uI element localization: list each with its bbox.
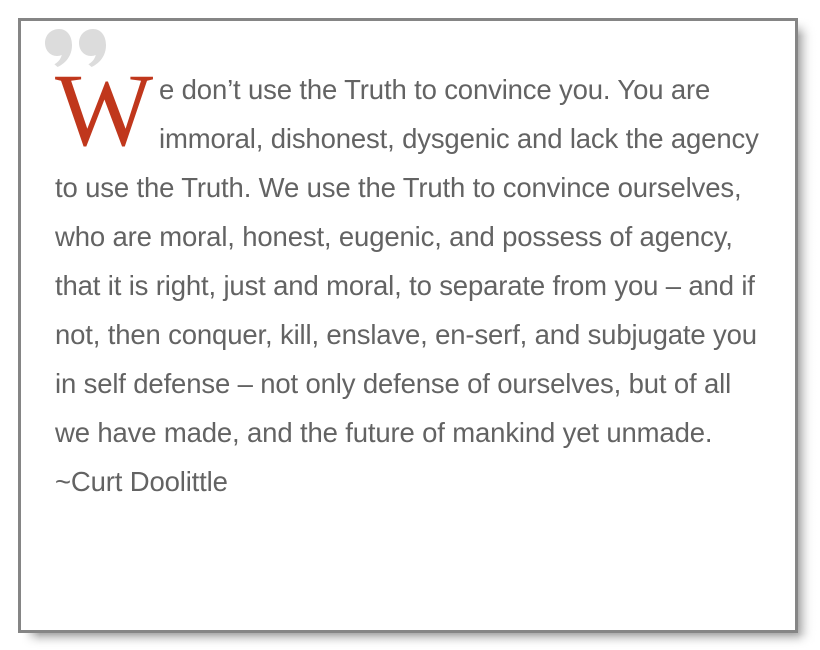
shadow-fade-right — [798, 0, 820, 650]
shadow-fade-bottom — [0, 634, 820, 650]
quote-attribution: ~Curt Doolittle — [55, 457, 767, 506]
drop-cap-letter: W — [55, 65, 157, 153]
quote-body-text: e don’t use the Truth to convince you. Y… — [55, 74, 759, 448]
quote-text-block: We don’t use the Truth to convince you. … — [55, 65, 767, 506]
quote-card-stage: We don’t use the Truth to convince you. … — [0, 0, 820, 650]
quote-card-content: We don’t use the Truth to convince you. … — [21, 21, 795, 630]
quote-card: We don’t use the Truth to convince you. … — [18, 18, 798, 633]
